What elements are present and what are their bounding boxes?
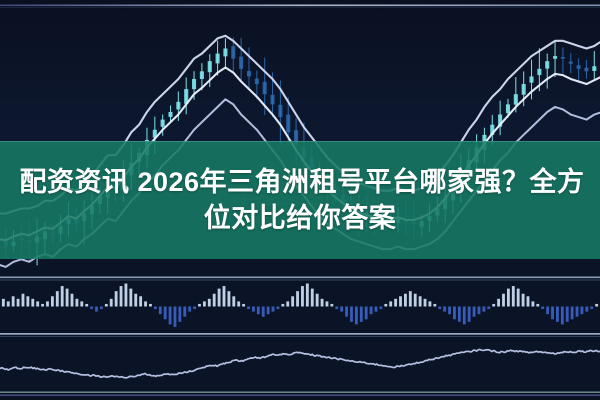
screenshot-stage: 配资资讯 配资资讯 2026年三角洲租号平台哪家强？全方 位对比给你答案 [0, 0, 600, 400]
bottom-rule-group [0, 392, 600, 400]
title-banner: 配资资讯 2026年三角洲租号平台哪家强？全方 位对比给你答案 [0, 141, 600, 259]
banner-title-line-1: 配资资讯 2026年三角洲租号平台哪家强？全方 [19, 164, 584, 200]
banner-title-line-2: 位对比给你答案 [204, 200, 397, 236]
